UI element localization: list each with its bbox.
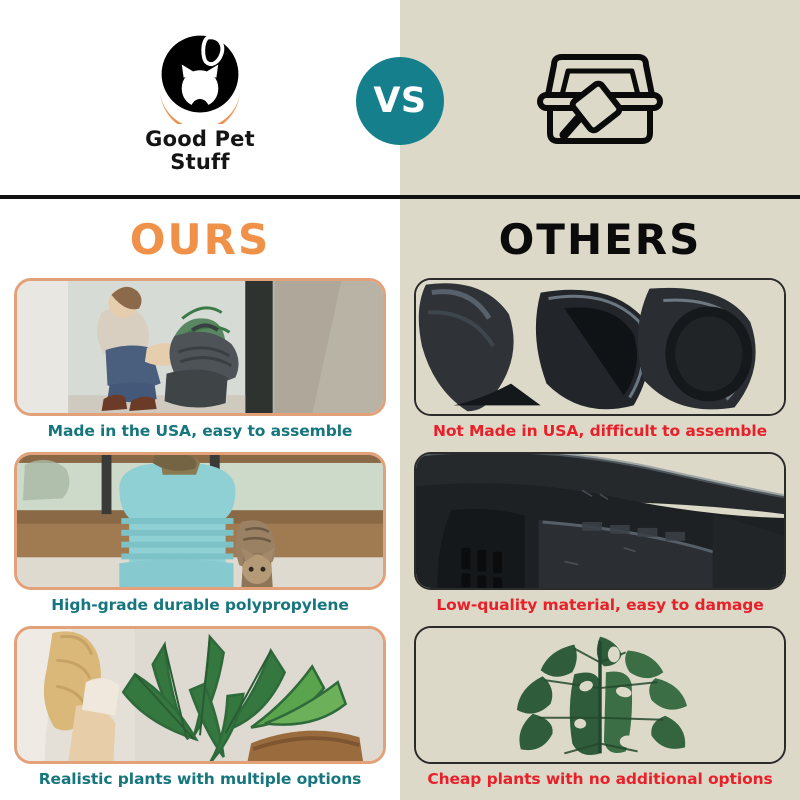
vs-label: VS — [373, 84, 426, 119]
comparison-grid: Made in the USA, easy to assemble — [0, 278, 800, 800]
caption-ours-2: High-grade durable polypropylene — [14, 597, 386, 614]
brand-name: Good Pet Stuff — [145, 128, 255, 173]
heading-others: OTHERS — [499, 219, 702, 261]
photo-card-ours-material — [14, 452, 386, 590]
caption-others-1: Not Made in USA, difficult to assemble — [414, 423, 786, 440]
dog-cat-head-logo-icon — [152, 28, 248, 124]
photo-blue-planter-litter-box-with-cat — [17, 455, 383, 587]
caption-others-3: Cheap plants with no additional options — [414, 771, 786, 788]
photo-disassembled-black-litter-box-parts — [416, 280, 784, 414]
heading-cell-ours: OURS — [0, 199, 400, 280]
photo-damaged-black-litter-box — [416, 454, 784, 588]
header-band: Good Pet Stuff VS — [0, 0, 800, 197]
vs-badge: VS — [356, 57, 444, 145]
heading-cell-others: OTHERS — [400, 199, 800, 280]
caption-others-2: Low-quality material, easy to damage — [414, 597, 786, 614]
comparison-infographic: Good Pet Stuff VS OURS OTHERS — [0, 0, 800, 800]
photo-woman-assembling-litter-box — [17, 281, 383, 413]
column-ours: Made in the USA, easy to assemble — [0, 278, 400, 800]
photo-single-monstera-leaf — [416, 628, 784, 762]
header-others-cell — [400, 0, 800, 197]
caption-ours-1: Made in the USA, easy to assemble — [14, 423, 386, 440]
photo-card-others-plants — [414, 626, 786, 764]
photo-woman-with-realistic-plants — [17, 629, 383, 761]
caption-ours-3: Realistic plants with multiple options — [14, 771, 386, 788]
column-others: Not Made in USA, difficult to assemble — [400, 278, 800, 800]
header-brand-cell: Good Pet Stuff — [0, 0, 400, 197]
row-ours-1: Made in the USA, easy to assemble — [0, 278, 400, 452]
photo-card-others-assembly — [414, 278, 786, 416]
brand-lockup: Good Pet Stuff — [145, 28, 255, 173]
row-ours-3: Realistic plants with multiple options — [0, 626, 400, 800]
photo-card-others-material — [414, 452, 786, 590]
litter-box-with-scoop-icon — [534, 47, 666, 151]
row-ours-2: High-grade durable polypropylene — [0, 452, 400, 626]
row-others-1: Not Made in USA, difficult to assemble — [400, 278, 800, 452]
photo-card-ours-assembly — [14, 278, 386, 416]
photo-card-ours-plants — [14, 626, 386, 764]
brand-name-line2: Stuff — [170, 150, 229, 174]
row-others-3: Cheap plants with no additional options — [400, 626, 800, 800]
heading-ours: OURS — [130, 219, 270, 261]
brand-name-line1: Good Pet — [145, 127, 255, 151]
column-headings: OURS OTHERS — [0, 199, 800, 280]
row-others-2: Low-quality material, easy to damage — [400, 452, 800, 626]
